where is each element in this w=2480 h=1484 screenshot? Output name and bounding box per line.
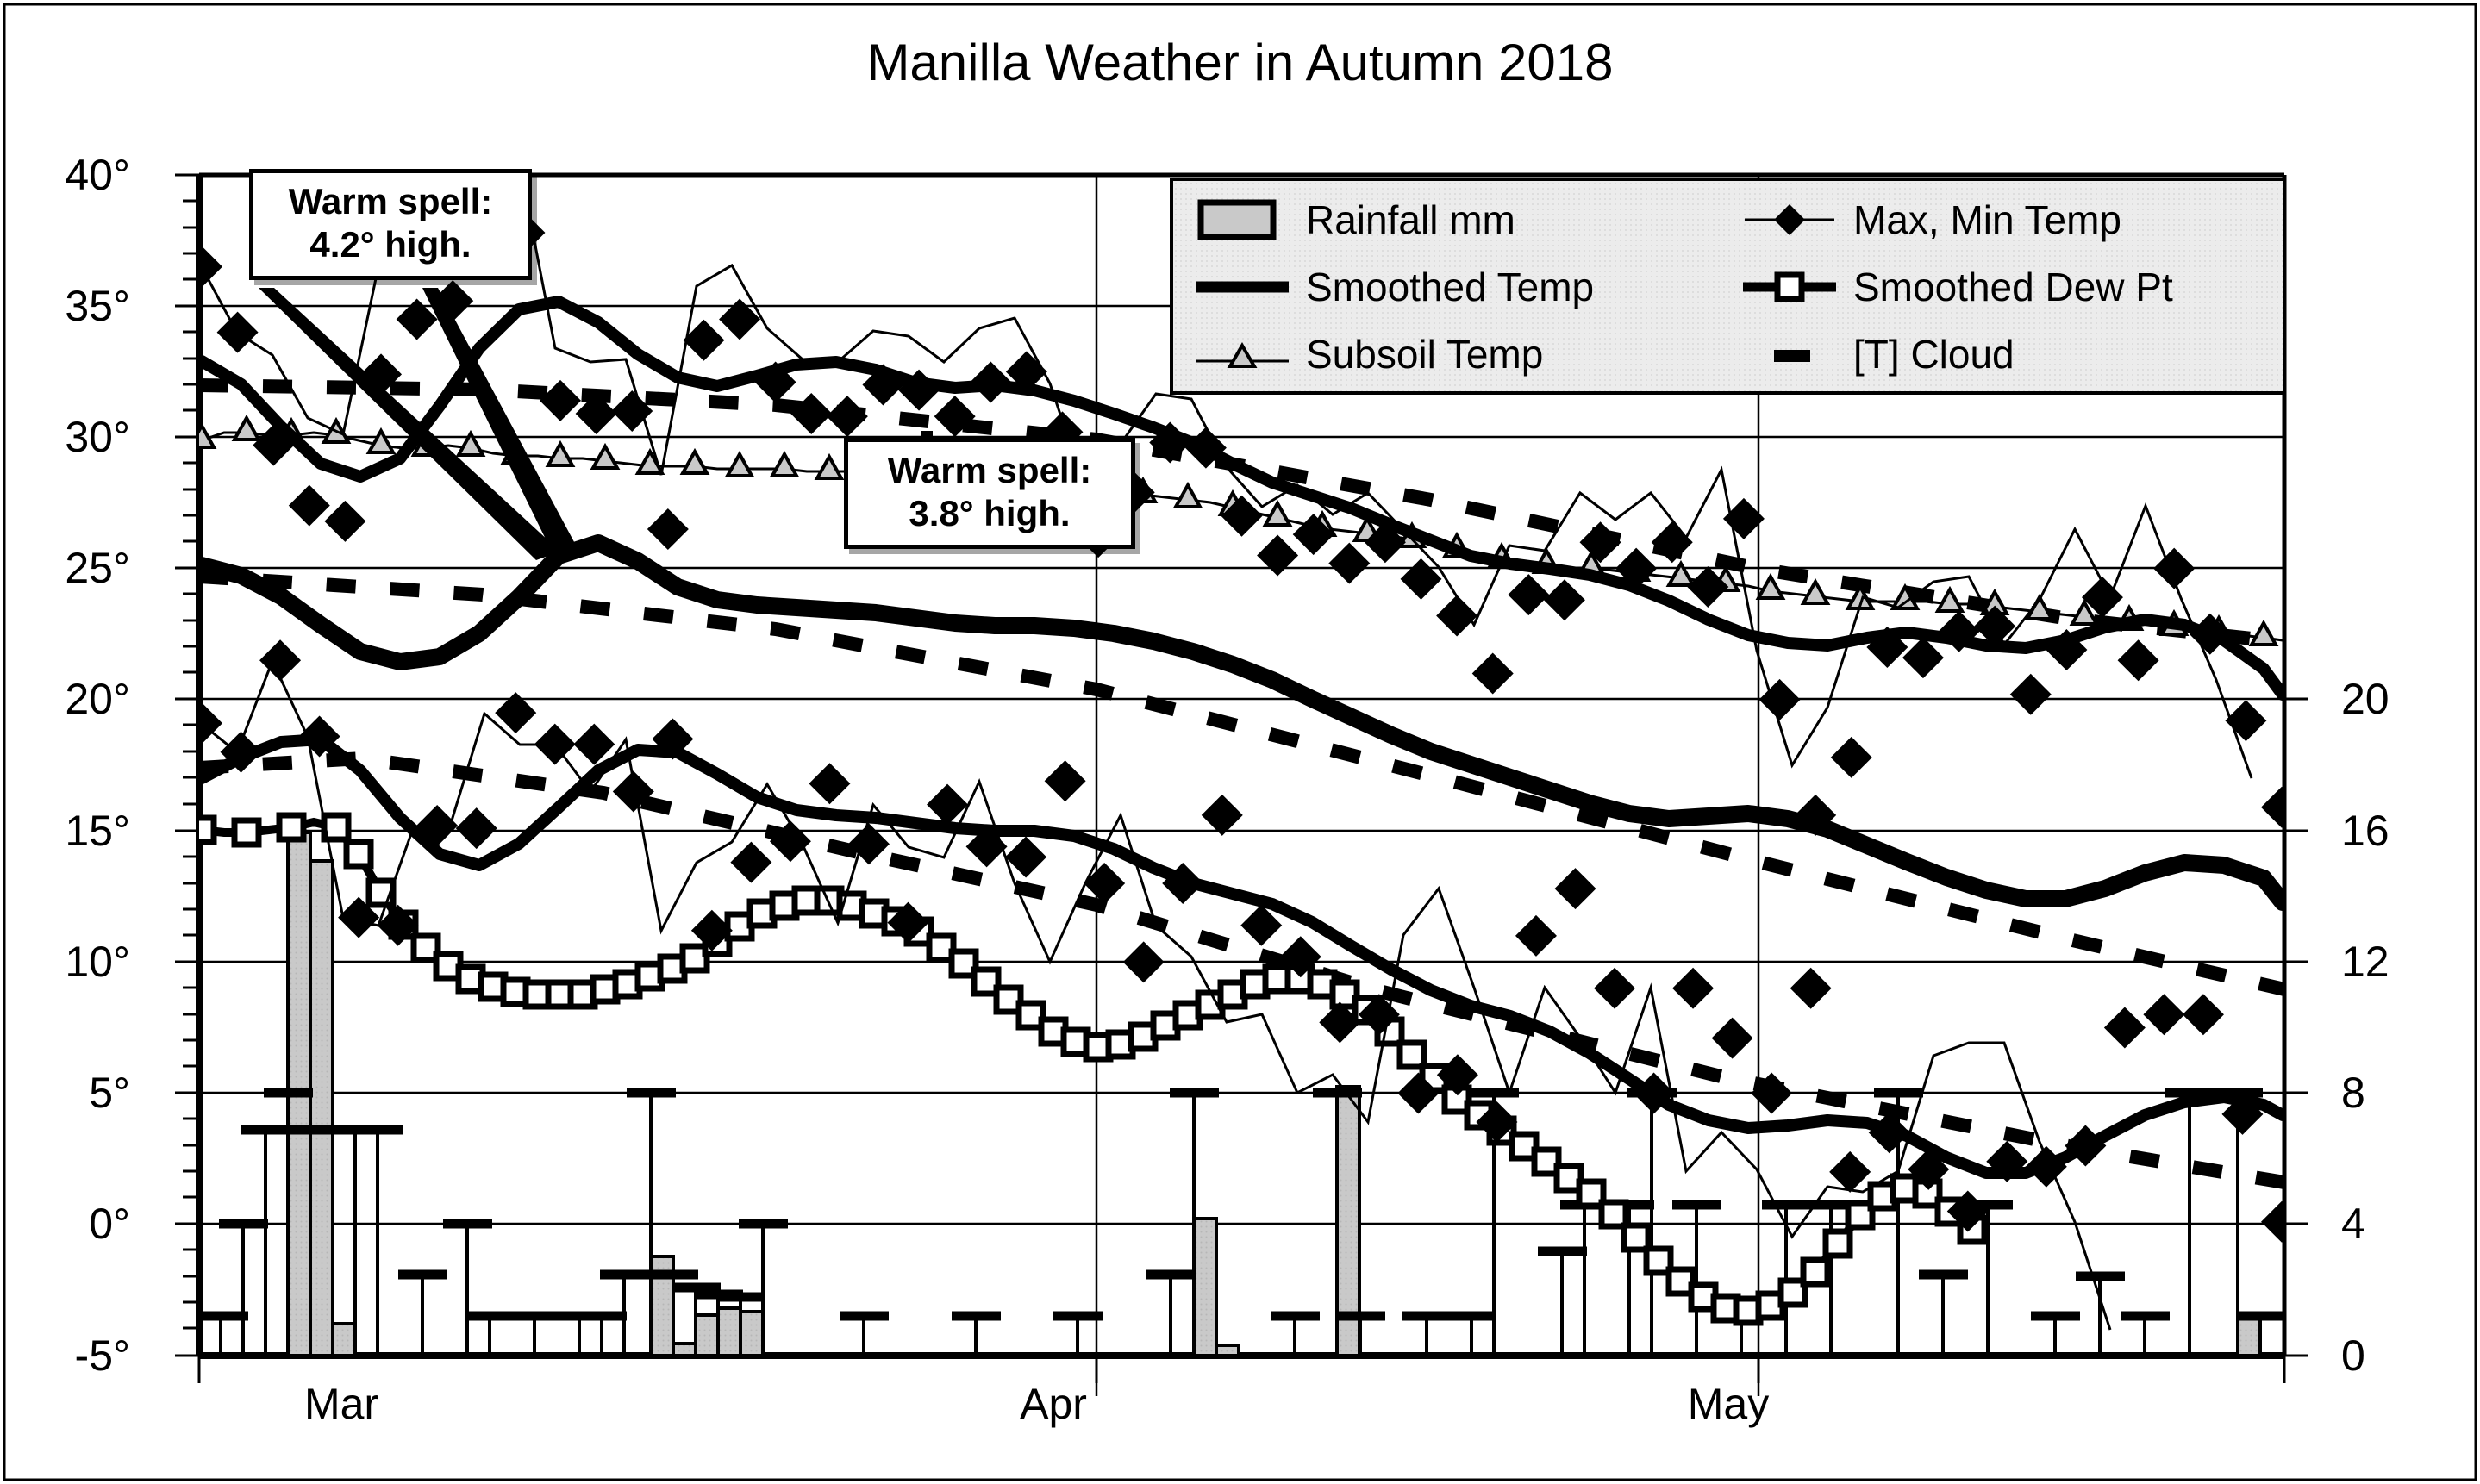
- y-axis-left-tick: 35°: [1, 281, 130, 331]
- temp-diamond-marker: [1790, 968, 1832, 1009]
- temp-diamond-marker: [1202, 795, 1243, 836]
- temp-diamond-marker: [1652, 521, 1693, 563]
- legend-label: Subsoil Temp: [1306, 331, 1543, 377]
- left-axis-ticks: [175, 175, 199, 1356]
- legend-label: Smoothed Dew Pt: [1853, 264, 2173, 310]
- open-triangle-marker-icon: [1190, 332, 1294, 377]
- y-axis-left-tick: 5°: [1, 1068, 130, 1118]
- annotation-line-2: 3.8° high.: [860, 492, 1119, 535]
- y-axis-right-tick: 20: [2341, 674, 2471, 724]
- legend-item-max-min-temp: Max, Min Temp: [1738, 196, 2121, 243]
- open-square-marker-icon: [1738, 265, 1841, 309]
- y-axis-right-tick: 8: [2341, 1068, 2471, 1118]
- y-axis-left-tick: 20°: [1, 674, 130, 724]
- legend-item-smoothed-dew-pt: Smoothed Dew Pt: [1738, 264, 2173, 310]
- temp-diamond-marker: [456, 807, 497, 849]
- temp-diamond-marker: [1554, 868, 1596, 909]
- temp-diamond-marker: [1328, 543, 1370, 584]
- y-axis-left-tick: 10°: [1, 937, 130, 987]
- temp-diamond-marker: [809, 763, 850, 804]
- x-axis-tick-may: May: [1688, 1379, 1769, 1429]
- legend-label: [T] Cloud: [1853, 331, 2015, 377]
- x-axis-tick-apr: Apr: [1020, 1379, 1087, 1429]
- annotation-warm-spell-2: Warm spell: 3.8° high.: [844, 438, 1135, 549]
- annotation-warm-spell-1: Warm spell: 4.2° high.: [249, 169, 532, 280]
- temp-diamond-marker: [827, 396, 868, 437]
- thick-line-icon: [1190, 265, 1294, 309]
- legend-item-smoothed-temp: Smoothed Temp: [1190, 264, 1594, 310]
- annotation-line-1: Warm spell:: [860, 449, 1119, 492]
- temp-diamond-marker: [1123, 941, 1165, 982]
- temp-diamond-marker: [1472, 652, 1514, 694]
- x-axis-tick-mar: Mar: [304, 1379, 378, 1429]
- temp-diamond-marker: [1759, 679, 1801, 720]
- legend-item-t-cloud: [T] Cloud: [1738, 331, 2015, 377]
- rainfall-swatch-icon: [1190, 197, 1294, 242]
- annotation-line-2: 4.2° high.: [265, 223, 515, 266]
- temp-diamond-marker: [1902, 637, 1944, 678]
- legend-label: Rainfall mm: [1306, 196, 1515, 243]
- temp-diamond-marker: [2261, 1201, 2302, 1243]
- temp-diamond-marker: [1045, 760, 1086, 801]
- y-axis-left-tick: -5°: [1, 1331, 130, 1381]
- temp-diamond-marker: [1580, 521, 1621, 563]
- x-axis-ticks: [199, 1356, 2284, 1383]
- right-axis-ticks: [2284, 699, 2308, 1356]
- y-axis-left-tick: 30°: [1, 412, 130, 462]
- temp-diamond-marker: [217, 312, 259, 353]
- chart-legend: Rainfall mm Max, Min Temp Smoothed Temp: [1170, 178, 2286, 395]
- temp-diamond-marker: [1544, 579, 1585, 620]
- temp-diamond-marker: [1672, 968, 1714, 1009]
- temp-diamond-marker: [534, 724, 576, 765]
- legend-label: Smoothed Temp: [1306, 264, 1594, 310]
- temp-diamond-marker: [1515, 915, 1557, 957]
- temp-diamond-marker: [1257, 534, 1298, 576]
- temp-diamond-marker: [1831, 737, 1872, 778]
- diamond-marker-icon: [1738, 197, 1841, 242]
- temp-diamond-marker: [1712, 1018, 1753, 1059]
- y-axis-left-tick: 40°: [1, 150, 130, 200]
- temp-diamond-marker: [1293, 514, 1334, 555]
- y-axis-right-tick: 16: [2341, 806, 2471, 856]
- temp-diamond-marker: [730, 842, 771, 883]
- temp-diamond-marker: [2010, 674, 2052, 715]
- temp-diamond-marker: [324, 501, 365, 542]
- temp-diamond-marker: [1508, 574, 1549, 615]
- temp-diamond-marker: [1436, 595, 1477, 636]
- legend-label: Max, Min Temp: [1853, 196, 2121, 243]
- temp-diamond-marker: [2118, 639, 2159, 681]
- temp-diamond-marker: [2143, 994, 2184, 1035]
- legend-item-subsoil-temp: Subsoil Temp: [1190, 331, 1543, 377]
- temp-diamond-marker: [181, 702, 222, 744]
- annotation-line-1: Warm spell:: [265, 180, 515, 223]
- temp-diamond-marker: [2261, 787, 2302, 828]
- temp-diamond-marker: [1829, 1151, 1871, 1193]
- temp-diamond-marker: [647, 508, 689, 550]
- weather-chart-figure: Manilla Weather in Autumn 2018: [0, 0, 2480, 1484]
- temp-diamond-marker: [2183, 994, 2224, 1035]
- temp-diamond-marker: [2225, 700, 2266, 741]
- y-axis-left-tick: 15°: [1, 806, 130, 856]
- temp-diamond-marker: [790, 393, 832, 434]
- temp-diamond-marker: [2104, 1007, 2146, 1048]
- y-axis-left-tick: 25°: [1, 543, 130, 593]
- smoothed-min-temp-line: [202, 739, 2283, 1173]
- y-axis-right-tick: 12: [2341, 937, 2471, 987]
- cloud-dash-icon: [1738, 332, 1841, 377]
- temp-diamond-marker: [1594, 968, 1635, 1009]
- temp-diamond-marker: [2153, 548, 2195, 589]
- y-axis-right-tick: 0: [2341, 1331, 2471, 1381]
- y-axis-right-tick: 4: [2341, 1199, 2471, 1249]
- legend-item-rainfall: Rainfall mm: [1190, 196, 1515, 243]
- temp-diamond-marker: [289, 485, 330, 527]
- y-axis-left-tick: 0°: [1, 1199, 130, 1249]
